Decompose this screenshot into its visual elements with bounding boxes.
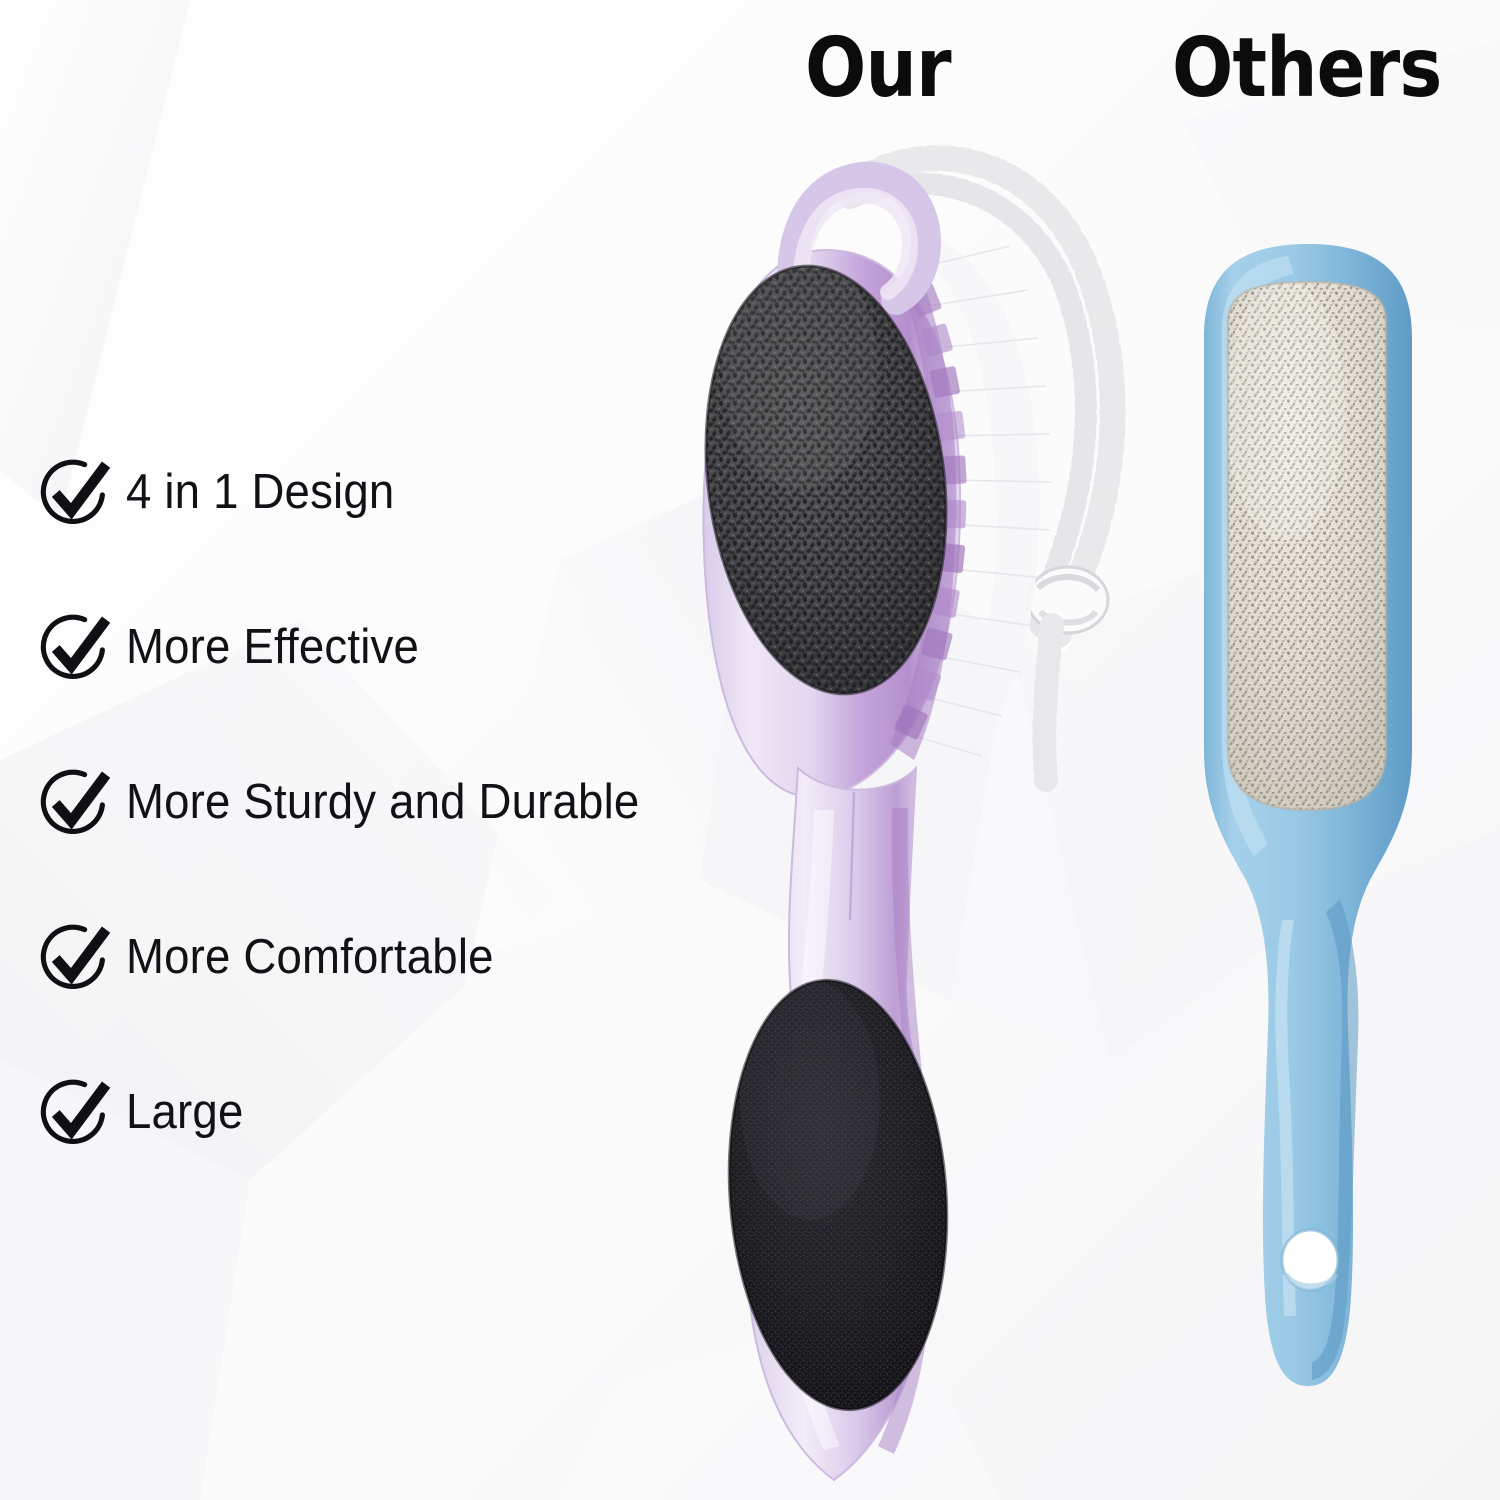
emery-file-pad: [710, 970, 995, 1448]
product-image-ours: [690, 120, 1160, 1500]
column-header-our: Our: [805, 28, 951, 110]
check-circle-icon: [38, 610, 112, 684]
product-image-others: [1190, 230, 1470, 1400]
hanging-hole: [1282, 1230, 1338, 1290]
check-circle-icon: [38, 455, 112, 529]
column-header-others: Others: [1172, 28, 1441, 110]
pumice-stone-inset: [1220, 275, 1407, 829]
feature-label: More Comfortable: [126, 929, 494, 985]
feature-label: 4 in 1 Design: [126, 464, 394, 520]
feature-label: More Effective: [126, 619, 419, 675]
check-circle-icon: [38, 920, 112, 994]
check-circle-icon: [38, 1075, 112, 1149]
feature-label: More Sturdy and Durable: [126, 774, 639, 830]
check-circle-icon: [38, 765, 112, 839]
comparison-image: Our Others 4 in 1 Design More Effective …: [0, 0, 1500, 1500]
feature-label: Large: [126, 1084, 243, 1140]
